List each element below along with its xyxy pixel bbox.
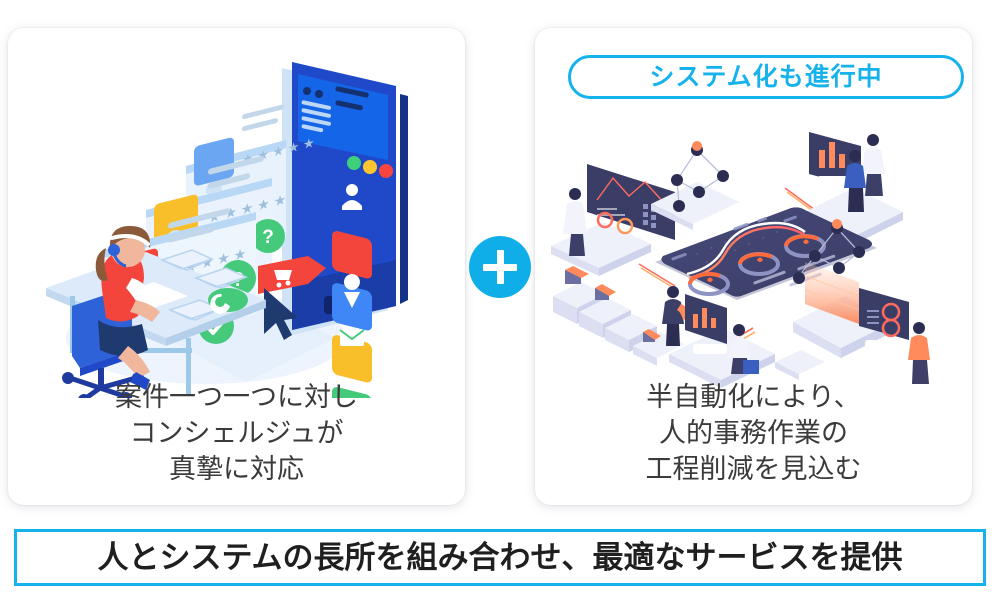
system-automation-card: システム化も進行中 <box>535 28 972 505</box>
plus-vertical-bar <box>497 250 504 284</box>
caption-line: 人的事務作業の <box>535 415 972 451</box>
caption-line: 真摯に対応 <box>8 451 465 487</box>
caption-line: 案件一つ一つに対し <box>8 379 465 415</box>
caption-line: 工程削減を見込む <box>535 451 972 487</box>
status-badge: システム化も進行中 <box>568 55 964 99</box>
summary-banner: 人とシステムの長所を組み合わせ、最適なサービスを提供 <box>14 529 986 586</box>
slide-canvas: ★ ★ ★ ★ ★ ★ ★ ★ ★ ★ ? <box>0 0 1000 598</box>
summary-banner-text: 人とシステムの長所を組み合わせ、最適なサービスを提供 <box>97 542 902 573</box>
left-card-caption: 案件一つ一つに対し コンシェルジュが 真摯に対応 <box>8 379 465 487</box>
caption-line: コンシェルジュが <box>8 415 465 451</box>
svg-text:?: ? <box>262 227 274 248</box>
plus-icon <box>469 236 531 298</box>
customer-support-illustration: ★ ★ ★ ★ ★ ★ ★ ★ ★ ★ ? <box>36 38 446 398</box>
customer-support-illustration-svg: ★ ★ ★ ★ ★ ★ ★ ★ ★ ★ ? <box>36 38 446 398</box>
data-dashboard-illustration-svg <box>547 116 962 388</box>
status-badge-label: システム化も進行中 <box>649 65 882 90</box>
human-concierge-card: ★ ★ ★ ★ ★ ★ ★ ★ ★ ★ ? <box>8 28 465 505</box>
right-card-caption: 半自動化により、 人的事務作業の 工程削減を見込む <box>535 379 972 487</box>
data-dashboard-illustration <box>547 116 962 388</box>
caption-line: 半自動化により、 <box>535 379 972 415</box>
